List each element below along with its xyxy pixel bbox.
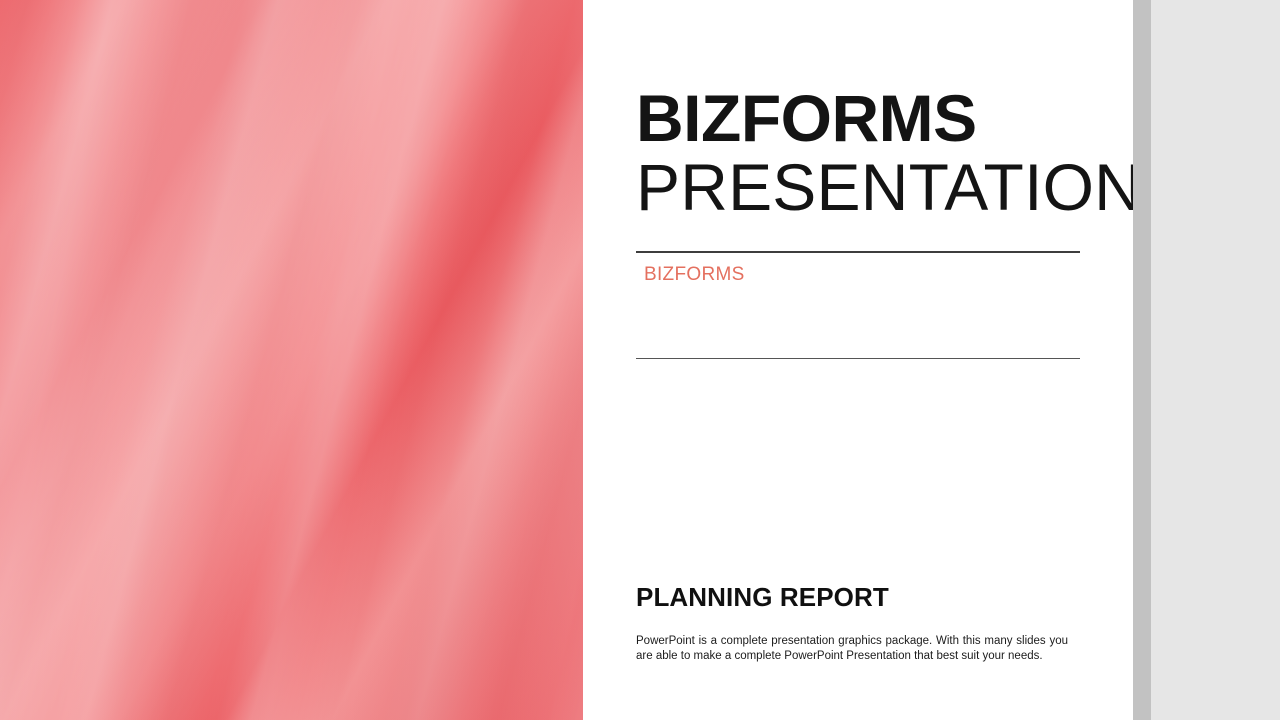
slide-viewer: BIZFORMS PRESENTATION BIZFORMS PLANNING … (0, 0, 1280, 720)
decorative-coral-panel (0, 0, 583, 720)
divider-rule-bottom (636, 358, 1080, 359)
slide-title: BIZFORMS PRESENTATION (636, 84, 1096, 222)
vertical-scrollbar[interactable] (1133, 0, 1151, 720)
slide-subtitle: BIZFORMS (644, 263, 745, 287)
gradient-sheen-overlay (0, 0, 583, 720)
title-line-secondary: PRESENTATION (636, 152, 1096, 222)
divider-rule-top (636, 251, 1080, 253)
title-line-primary: BIZFORMS (636, 84, 1096, 152)
body-paragraph: PowerPoint is a complete presentation gr… (636, 634, 1068, 664)
presentation-slide: BIZFORMS PRESENTATION BIZFORMS PLANNING … (0, 0, 1133, 720)
section-heading: PLANNING REPORT (636, 582, 889, 612)
slide-content-column: BIZFORMS PRESENTATION BIZFORMS PLANNING … (636, 0, 1133, 720)
